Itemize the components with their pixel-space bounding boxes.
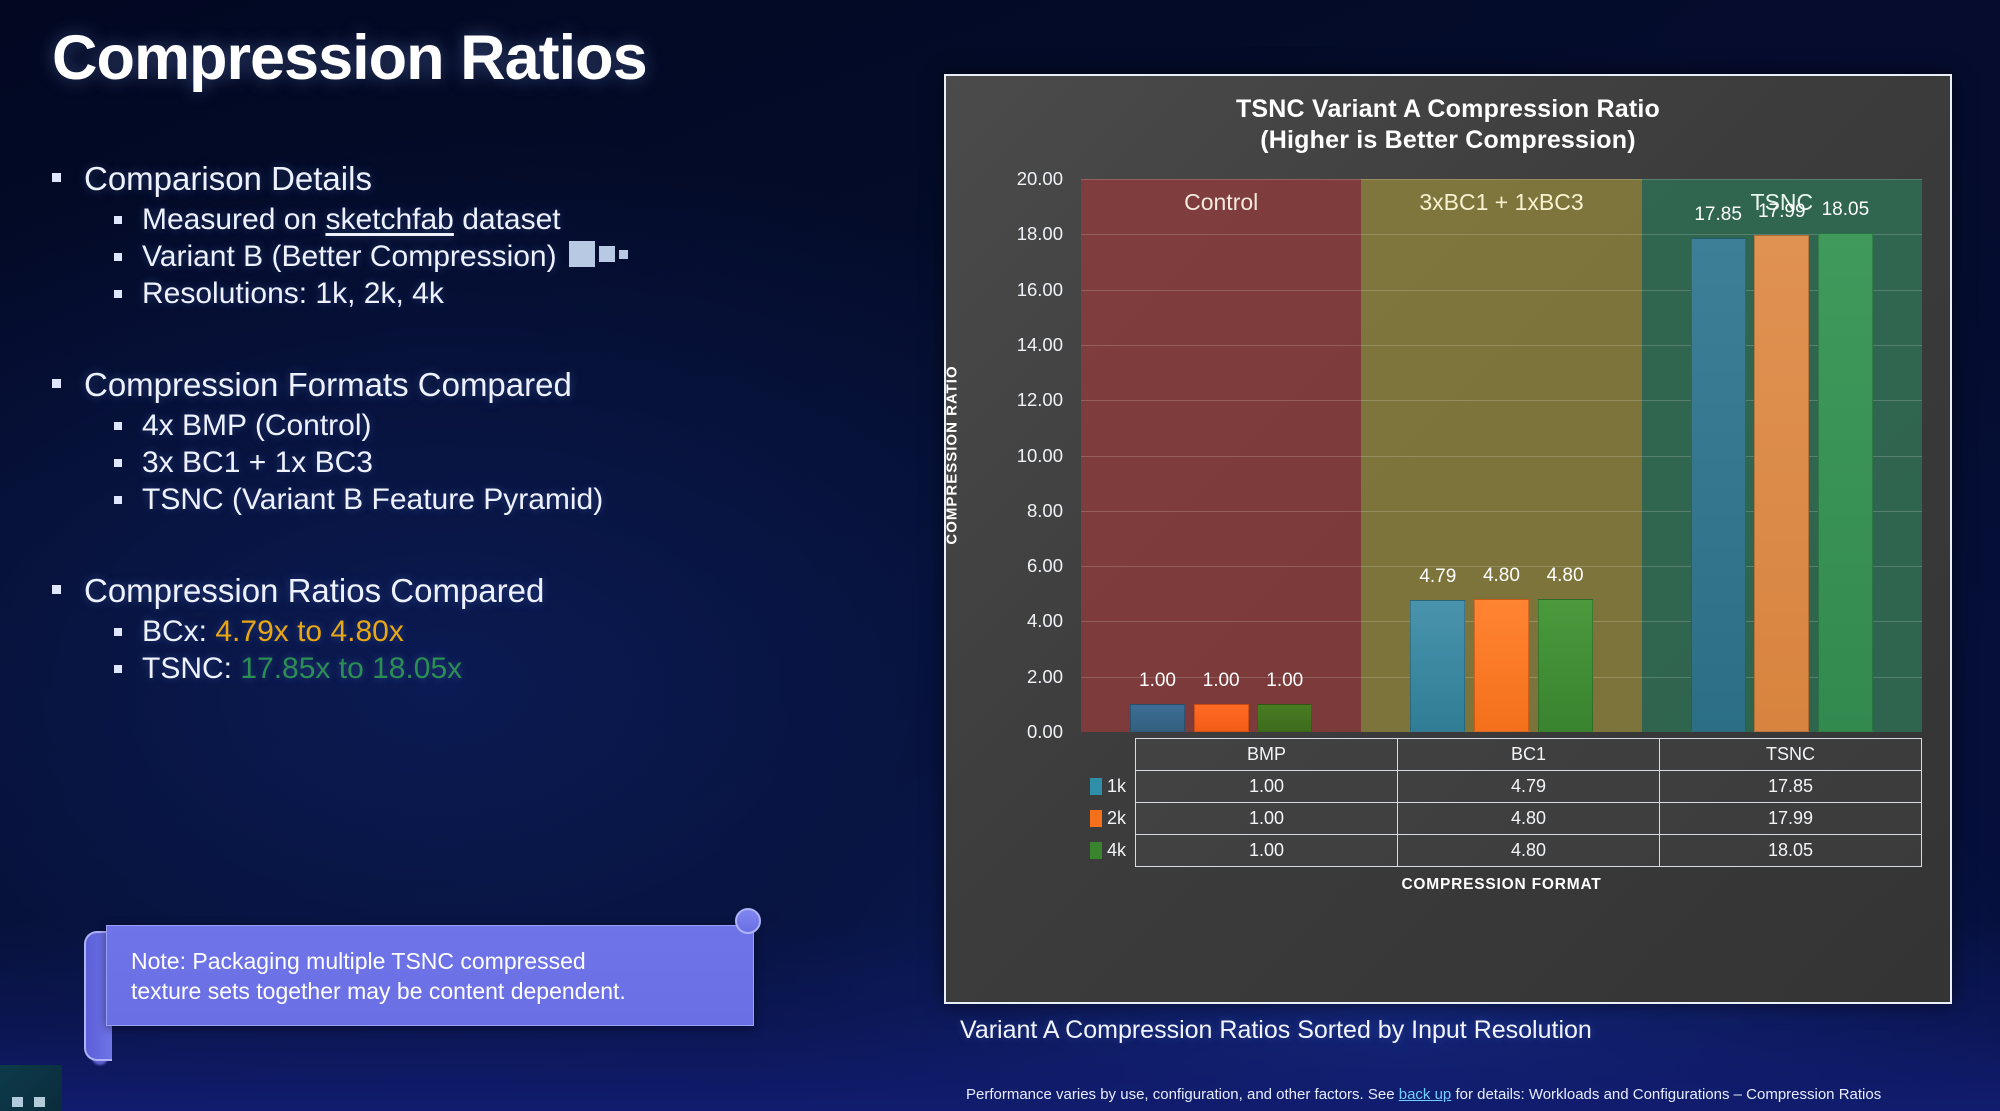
bullet-bmp-control: 4x BMP (Control) — [114, 409, 932, 443]
bar-bc1-4k[interactable]: 4.80 — [1538, 599, 1593, 732]
bar-group-bc1: 4.79 4.80 4.80 — [1361, 179, 1641, 732]
legend-item-2k: 2k — [1081, 803, 1136, 835]
bullet-text-value: Variant B (Better Compression) — [142, 240, 557, 273]
chart-data-table: BMP BC1 TSNC 1k 1.00 4.79 17.85 — [1081, 738, 1922, 867]
chart-title: TSNC Variant A Compression Ratio (Higher… — [946, 94, 1950, 155]
bullet-text-pre: Measured on — [142, 203, 325, 236]
bullet-text: Compression Formats Compared — [84, 366, 572, 404]
y-axis-tick-labels: 20.0018.0016.0014.0012.0010.008.006.004.… — [961, 179, 1071, 732]
y-axis-title: COMPRESSION RATIO — [944, 365, 961, 544]
legend-swatch-1k-icon — [1090, 778, 1102, 795]
bullet-text: 4x BMP (Control) — [142, 409, 372, 443]
bullet-marker-icon — [114, 203, 142, 224]
bar-tsnc-1k[interactable]: 17.85 — [1691, 238, 1746, 732]
disclaimer-post: for details: Workloads and Configuration… — [1451, 1086, 1881, 1103]
bar-rect — [1130, 704, 1185, 732]
y-tick-label: 20.00 — [1017, 168, 1063, 190]
bullet-tsnc-pyramid: TSNC (Variant B Feature Pyramid) — [114, 483, 932, 517]
bar-bc1-1k[interactable]: 4.79 — [1410, 600, 1465, 732]
bullet-marker-icon — [114, 652, 142, 673]
bar-rect — [1538, 599, 1593, 732]
bullet-marker-icon — [52, 160, 84, 182]
table-col-bc1: BC1 — [1398, 739, 1660, 771]
table-cell: 17.99 — [1660, 803, 1922, 835]
bar-rect — [1257, 704, 1312, 732]
bullet-text: Comparison Details — [84, 160, 372, 198]
bar-bc1-2k[interactable]: 4.80 — [1474, 599, 1529, 732]
table-row: 1k 1.00 4.79 17.85 — [1081, 771, 1922, 803]
bullet-comparison-details: Comparison Details — [52, 160, 932, 198]
table-cell: 1.00 — [1136, 803, 1398, 835]
sketchfab-link[interactable]: sketchfab — [325, 203, 453, 236]
bar-value-label: 4.80 — [1483, 565, 1520, 587]
chart-panel: TSNC Variant A Compression Ratio (Higher… — [944, 74, 1952, 1004]
table-col-bmp: BMP — [1136, 739, 1398, 771]
bar-rect — [1194, 704, 1249, 732]
bullet-text: BCx: 4.79x to 4.80x — [142, 615, 404, 649]
note-line-1: Note: Packaging multiple TSNC compressed — [131, 946, 735, 976]
bar-bmp-2k[interactable]: 1.00 — [1194, 704, 1249, 732]
bar-rect — [1754, 235, 1809, 732]
presentation-slide: Compression Ratios Comparison Details Me… — [0, 0, 2000, 1111]
legend-swatch-2k-icon — [1090, 810, 1102, 827]
bar-rect — [1818, 233, 1873, 732]
tsnc-label: TSNC: — [142, 652, 240, 685]
bullet-marker-icon — [52, 572, 84, 594]
bar-rect — [1474, 599, 1529, 732]
chart-card: TSNC Variant A Compression Ratio (Higher… — [944, 74, 1952, 1004]
legend-label: 2k — [1107, 808, 1126, 828]
bar-group-bmp: 1.00 1.00 1.00 — [1081, 179, 1361, 732]
bar-value-label: 17.85 — [1694, 204, 1742, 226]
table-cell: 18.05 — [1660, 835, 1922, 867]
bar-tsnc-2k[interactable]: 17.99 — [1754, 235, 1809, 732]
legend-swatch-4k-icon — [1090, 842, 1102, 859]
bullet-formats-compared: Compression Formats Compared — [52, 366, 932, 404]
bullet-bcx-ratio: BCx: 4.79x to 4.80x — [114, 615, 932, 649]
x-axis-title: COMPRESSION FORMAT — [1081, 876, 1922, 894]
legend-label: 1k — [1107, 776, 1126, 796]
footer-disclaimer: Performance varies by use, configuration… — [966, 1086, 1996, 1103]
chart-title-sub: (Higher is Better Compression) — [946, 125, 1950, 156]
y-tick-label: 16.00 — [1017, 279, 1063, 301]
bullet-marker-icon — [114, 277, 142, 298]
table-corner-cell — [1081, 739, 1136, 771]
bullet-ratios-compared: Compression Ratios Compared — [52, 572, 932, 610]
bar-bmp-1k[interactable]: 1.00 — [1130, 704, 1185, 732]
table-row: 4k 1.00 4.80 18.05 — [1081, 835, 1922, 867]
bullet-text: Measured on sketchfab dataset — [142, 203, 561, 237]
bullet-marker-icon — [114, 240, 142, 261]
note-line-2: texture sets together may be content dep… — [131, 976, 735, 1006]
bar-value-label: 18.05 — [1822, 199, 1870, 221]
bar-rect — [1691, 238, 1746, 732]
chart-title-main: TSNC Variant A Compression Ratio — [946, 94, 1950, 125]
table-header-row: BMP BC1 TSNC — [1081, 739, 1922, 771]
bar-value-label: 4.80 — [1547, 565, 1584, 587]
bar-rect — [1410, 600, 1465, 732]
bullet-text: Variant B (Better Compression) — [142, 240, 628, 274]
y-tick-label: 12.00 — [1017, 389, 1063, 411]
chart-plot-area: COMPRESSION RATIO 20.0018.0016.0014.0012… — [1081, 179, 1922, 732]
bullet-spacer — [52, 520, 932, 572]
y-tick-label: 0.00 — [1027, 721, 1063, 743]
bcx-label: BCx: — [142, 615, 215, 648]
bullet-text: TSNC (Variant B Feature Pyramid) — [142, 483, 603, 517]
legend-item-1k: 1k — [1081, 771, 1136, 803]
bullet-marker-icon — [114, 446, 142, 467]
bar-value-label: 1.00 — [1139, 670, 1176, 692]
bullet-resolutions: Resolutions: 1k, 2k, 4k — [114, 277, 932, 311]
y-tick-label: 8.00 — [1027, 500, 1063, 522]
bullet-marker-icon — [114, 615, 142, 636]
bullet-text: Compression Ratios Compared — [84, 572, 544, 610]
bullet-spacer — [52, 314, 932, 366]
bar-bmp-4k[interactable]: 1.00 — [1257, 704, 1312, 732]
tsnc-value: 17.85x to 18.05x — [240, 652, 462, 685]
table-cell: 4.79 — [1398, 771, 1660, 803]
scroll-curl-right-icon — [735, 908, 761, 934]
table-cell: 1.00 — [1136, 771, 1398, 803]
bullet-marker-icon — [114, 409, 142, 430]
bullet-variant-b: Variant B (Better Compression) — [114, 240, 932, 274]
y-tick-label: 18.00 — [1017, 223, 1063, 245]
bar-value-label: 1.00 — [1266, 670, 1303, 692]
chart-bars: 1.00 1.00 1.00 — [1081, 179, 1922, 732]
y-tick-label: 4.00 — [1027, 610, 1063, 632]
legend-item-4k: 4k — [1081, 835, 1136, 867]
compression-squares-icon — [569, 241, 628, 267]
chart-caption: Variant A Compression Ratios Sorted by I… — [960, 1016, 1960, 1045]
bullet-list: Comparison Details Measured on sketchfab… — [52, 160, 932, 689]
bullet-text-post: dataset — [454, 203, 561, 236]
y-tick-label: 14.00 — [1017, 334, 1063, 356]
y-tick-label: 6.00 — [1027, 555, 1063, 577]
bullet-tsnc-ratio: TSNC: 17.85x to 18.05x — [114, 652, 932, 686]
table-cell: 4.80 — [1398, 835, 1660, 867]
table-col-tsnc: TSNC — [1660, 739, 1922, 771]
back-up-link[interactable]: back up — [1399, 1086, 1452, 1103]
table-cell: 4.80 — [1398, 803, 1660, 835]
bullet-bc1-bc3: 3x BC1 + 1x BC3 — [114, 446, 932, 480]
bullet-measured-on-dataset: Measured on sketchfab dataset — [114, 203, 932, 237]
bar-group-tsnc: 17.85 17.99 18.05 — [1642, 179, 1922, 732]
bar-value-label: 17.99 — [1758, 201, 1806, 223]
note-callout-body: Note: Packaging multiple TSNC compressed… — [106, 925, 754, 1026]
bullet-text: TSNC: 17.85x to 18.05x — [142, 652, 462, 686]
table-cell: 1.00 — [1136, 835, 1398, 867]
table-row: 2k 1.00 4.80 17.99 — [1081, 803, 1922, 835]
bullet-marker-icon — [52, 366, 84, 388]
bar-value-label: 4.79 — [1419, 566, 1456, 588]
y-tick-label: 10.00 — [1017, 445, 1063, 467]
page-title: Compression Ratios — [52, 22, 647, 94]
y-tick-label: 2.00 — [1027, 666, 1063, 688]
bullet-marker-icon — [114, 483, 142, 504]
bar-value-label: 1.00 — [1203, 670, 1240, 692]
slide-left-content: Compression Ratios Comparison Details Me… — [0, 0, 940, 1111]
bullet-text: 3x BC1 + 1x BC3 — [142, 446, 373, 480]
bullet-text: Resolutions: 1k, 2k, 4k — [142, 277, 444, 311]
table-cell: 17.85 — [1660, 771, 1922, 803]
bcx-value: 4.79x to 4.80x — [215, 615, 403, 648]
bar-tsnc-4k[interactable]: 18.05 — [1818, 233, 1873, 732]
legend-label: 4k — [1107, 840, 1126, 860]
disclaimer-pre: Performance varies by use, configuration… — [966, 1086, 1399, 1103]
note-callout: Note: Packaging multiple TSNC compressed… — [84, 925, 774, 1026]
